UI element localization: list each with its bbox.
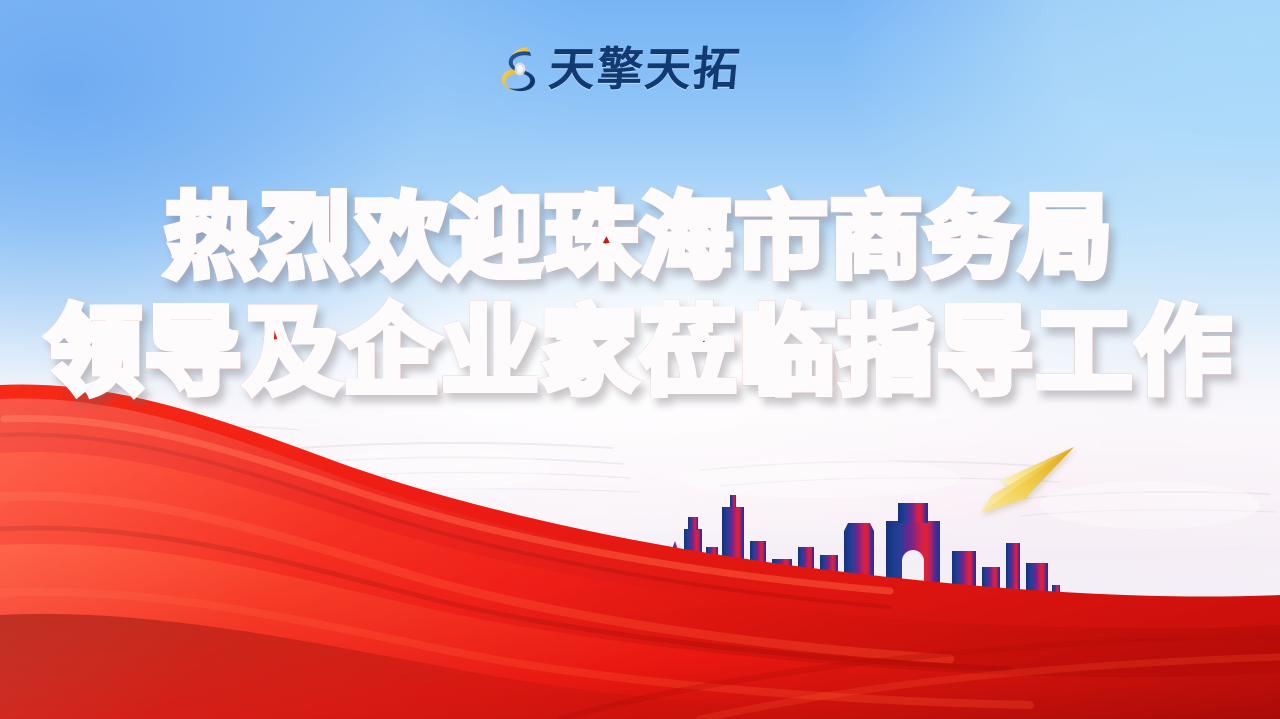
company-name: 天擎天拓: [547, 44, 743, 94]
title-line-2: 领导及企业家莅临指导工作: [0, 298, 1280, 406]
double-ribbon-helix-icon: [497, 44, 539, 94]
red-silk-wave-icon: [0, 379, 1280, 719]
welcome-title: 热烈欢迎珠海市商务局 领导及企业家莅临指导工作: [0, 186, 1280, 406]
title-line-1: 热烈欢迎珠海市商务局: [0, 186, 1280, 290]
company-logo: 天擎天拓: [497, 38, 741, 100]
poster-canvas: 天擎天拓 热烈欢迎珠海市商务局 领导及企业家莅临指导工作: [0, 0, 1280, 719]
